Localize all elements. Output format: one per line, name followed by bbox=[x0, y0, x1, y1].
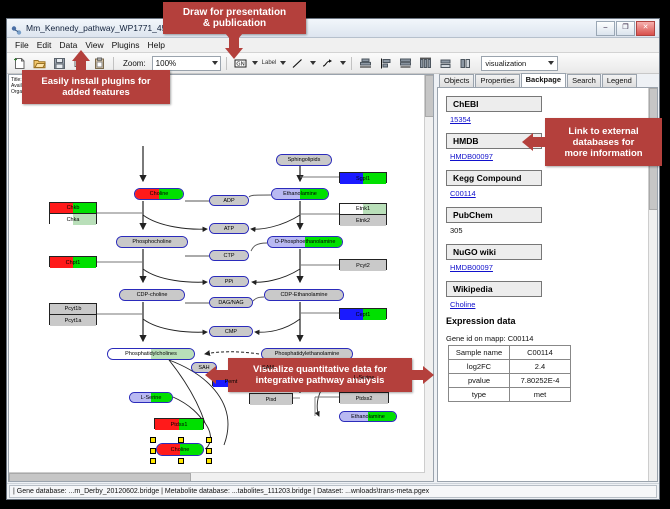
resize-handle[interactable] bbox=[178, 458, 184, 464]
gene-label: Etnk2 bbox=[356, 218, 370, 224]
minimize-button[interactable]: – bbox=[596, 21, 615, 36]
resize-handle[interactable] bbox=[150, 448, 156, 454]
canvas-vscroll-thumb[interactable] bbox=[425, 75, 434, 117]
database-link-kegg-compound[interactable]: C00114 bbox=[450, 189, 657, 198]
callout-plugins: Easily install plugins for added feature… bbox=[22, 70, 170, 104]
gene-row: Sgpl1 bbox=[340, 173, 386, 184]
metabolite-label: PPi bbox=[225, 279, 234, 285]
resize-handle[interactable] bbox=[206, 448, 212, 454]
interaction-dropdown-icon[interactable] bbox=[339, 57, 346, 70]
gene-row: Cept1 bbox=[340, 309, 386, 320]
callout-visualize: Visualize quantitative data for integrat… bbox=[228, 358, 412, 392]
gene-row: Etnk2 bbox=[340, 215, 386, 226]
database-link-nugo-wiki[interactable]: HMDB00097 bbox=[450, 263, 657, 272]
metabolite-label: CTP bbox=[224, 253, 235, 259]
metabolite-node-choline-selected[interactable]: Choline bbox=[156, 443, 204, 456]
metabolite-label: DAG/NAG bbox=[218, 300, 243, 306]
gene-row: Pcyt1a bbox=[50, 315, 96, 326]
gene-label: Chpt1 bbox=[66, 260, 81, 266]
canvas-hscroll-thumb[interactable] bbox=[9, 473, 191, 482]
callout-plugins-arrowhead-icon bbox=[72, 50, 90, 61]
gene-row: Ptdss1 bbox=[155, 419, 203, 430]
database-heading-kegg-compound: Kegg Compound bbox=[446, 170, 542, 186]
menu-plugins[interactable]: Plugins bbox=[108, 40, 144, 50]
callout-links-arrowhead-icon bbox=[522, 133, 533, 151]
interaction-tool-icon[interactable] bbox=[319, 55, 336, 72]
metabolite-node-cdp-ethanolamine[interactable]: CDP-Ethanolamine bbox=[264, 289, 344, 301]
callout-plugins-line2: added features bbox=[62, 87, 130, 98]
gene-row: Chpt1 bbox=[50, 257, 96, 268]
gene-row: Chka bbox=[50, 214, 96, 225]
metabolite-label: SAM bbox=[262, 365, 274, 371]
gene-node-etnk1-etnk2[interactable]: Etnk1Etnk2 bbox=[339, 203, 387, 225]
pathvisio-icon bbox=[11, 23, 22, 34]
tab-properties[interactable]: Properties bbox=[475, 74, 519, 87]
expression-key: pvalue bbox=[449, 374, 510, 388]
window-buttons: – ❐ ✕ bbox=[596, 21, 655, 36]
metabolite-label: L-Serine bbox=[354, 375, 375, 381]
gene-node-pcyt2[interactable]: Pcyt2 bbox=[339, 259, 387, 270]
metabolite-label: Choline bbox=[150, 191, 169, 197]
gene-label: Pcyt2 bbox=[356, 263, 370, 269]
open-file-icon[interactable] bbox=[31, 55, 48, 72]
metabolite-label: O-Phosphoethanolamine bbox=[275, 239, 336, 245]
callout-draw: Draw for presentation & publication bbox=[163, 2, 306, 34]
expression-value: C00114 bbox=[510, 346, 571, 360]
gene-id-line: Gene id on mapp: C00114 bbox=[446, 334, 657, 343]
metabolite-label: CDP-Ethanolamine bbox=[280, 292, 327, 298]
tab-legend[interactable]: Legend bbox=[602, 74, 637, 87]
menu-view[interactable]: View bbox=[81, 40, 107, 50]
metabolite-node-phosphatidylcholines[interactable]: Phosphatidylcholines bbox=[107, 348, 195, 360]
callout-links-line2: databases for bbox=[573, 137, 635, 148]
visualization-combobox[interactable]: visualization bbox=[481, 56, 558, 71]
metabolite-label: L-Serine bbox=[141, 395, 162, 401]
gene-label: Pcyt1b bbox=[65, 306, 82, 312]
expression-data-heading: Expression data bbox=[446, 316, 657, 326]
align-left-icon[interactable] bbox=[377, 55, 394, 72]
callout-visualize-arrowhead-right-icon bbox=[423, 366, 434, 384]
expression-row: pvalue7.80252E-4 bbox=[449, 374, 571, 388]
resize-handle[interactable] bbox=[206, 458, 212, 464]
line-tool-icon[interactable] bbox=[289, 55, 306, 72]
metabolite-label: Choline bbox=[171, 447, 190, 453]
stack-vertical-icon[interactable] bbox=[397, 55, 414, 72]
gene-label: Pisd bbox=[266, 397, 277, 403]
canvas-vertical-scrollbar[interactable] bbox=[424, 75, 433, 481]
maximize-button[interactable]: ❐ bbox=[616, 21, 635, 36]
metabolite-node-choline-top[interactable]: Choline bbox=[134, 188, 184, 200]
callout-draw-line1: Draw for presentation bbox=[183, 7, 286, 18]
callout-visualize-stem-right bbox=[410, 370, 424, 380]
gene-node-chkb-chka[interactable]: ChkbChka bbox=[49, 202, 97, 224]
menu-file[interactable]: File bbox=[11, 40, 33, 50]
callout-draw-line2: & publication bbox=[203, 18, 266, 29]
callout-links-stem bbox=[533, 137, 547, 147]
expression-key: Sample name bbox=[449, 346, 510, 360]
expression-row: Sample nameC00114 bbox=[449, 346, 571, 360]
menu-help[interactable]: Help bbox=[144, 40, 169, 50]
metabolite-node-ctp[interactable]: CTP bbox=[209, 250, 249, 261]
zoom-value: 100% bbox=[156, 59, 176, 68]
resize-handle[interactable] bbox=[206, 437, 212, 443]
expression-key: log2FC bbox=[449, 360, 510, 374]
expression-value: 2.4 bbox=[510, 360, 571, 374]
paste-icon[interactable] bbox=[91, 55, 108, 72]
gene-node-ptdss1[interactable]: Ptdss1 bbox=[154, 418, 204, 429]
gene-row: Ptdss2 bbox=[340, 393, 388, 404]
metabolite-node-dag-nag[interactable]: DAG/NAG bbox=[209, 297, 253, 308]
metabolite-node-atp[interactable]: ATP bbox=[209, 223, 249, 234]
metabolite-node-phosphocholine[interactable]: Phosphocholine bbox=[116, 236, 188, 248]
metabolite-label: CMP bbox=[225, 329, 237, 335]
gene-row: Pcyt2 bbox=[340, 260, 386, 271]
zoom-combobox[interactable]: 100% bbox=[152, 56, 221, 71]
gene-label: Ptdss2 bbox=[356, 396, 373, 402]
metabolite-node-ppi[interactable]: PPi bbox=[209, 276, 249, 287]
status-bar: | Gene database: ...m_Derby_20120602.bri… bbox=[7, 483, 659, 499]
gene-node-chpt1[interactable]: Chpt1 bbox=[49, 256, 97, 267]
metabolite-node-cmp[interactable]: CMP bbox=[209, 326, 253, 337]
resize-handle[interactable] bbox=[178, 437, 184, 443]
same-width-icon[interactable] bbox=[437, 55, 454, 72]
status-text: | Gene database: ...m_Derby_20120602.bri… bbox=[9, 485, 657, 498]
side-panel-tabs: Objects Properties Backpage Search Legen… bbox=[435, 74, 658, 87]
screenshot-root: Mm_Kennedy_pathway_WP1771_45176.gpml – ❐… bbox=[0, 0, 670, 509]
gene-label: Etnk1 bbox=[356, 206, 370, 212]
metabolite-node-l-serine-left[interactable]: L-Serine bbox=[129, 392, 173, 403]
toolbar-separator bbox=[113, 57, 114, 70]
chevron-down-icon-2 bbox=[548, 61, 554, 65]
expression-row: log2FC2.4 bbox=[449, 360, 571, 374]
database-heading-nugo-wiki: NuGO wiki bbox=[446, 244, 542, 260]
metabolite-label: Phosphatidylethanolamine bbox=[275, 351, 340, 357]
tab-search[interactable]: Search bbox=[567, 74, 601, 87]
metabolite-node-cdp-choline[interactable]: CDP-choline bbox=[119, 289, 185, 301]
expression-table: Sample nameC00114log2FC2.4pvalue7.80252E… bbox=[448, 345, 571, 402]
gene-label: Cept1 bbox=[356, 312, 371, 318]
gene-label: Pemt bbox=[225, 379, 238, 385]
visualization-value: visualization bbox=[485, 59, 526, 68]
title-bar: Mm_Kennedy_pathway_WP1771_45176.gpml – ❐… bbox=[7, 19, 659, 38]
new-file-icon[interactable] bbox=[11, 55, 28, 72]
tab-objects[interactable]: Objects bbox=[439, 74, 474, 87]
gene-node-sgpl1[interactable]: Sgpl1 bbox=[339, 172, 387, 183]
gene-node-pcyt1[interactable]: Pcyt1bPcyt1a bbox=[49, 303, 97, 325]
callout-links: Link to external databases for more info… bbox=[545, 118, 662, 166]
svg-text:GN: GN bbox=[236, 61, 245, 67]
gene-node-ptdss2[interactable]: Ptdss2 bbox=[339, 392, 389, 403]
metabolite-label: ATP bbox=[224, 226, 234, 232]
expression-value: met bbox=[510, 388, 571, 402]
expression-row: typemet bbox=[449, 388, 571, 402]
metabolite-node-ethanolamine-top[interactable]: Ethanolamine bbox=[271, 188, 329, 200]
metabolite-label: ADP bbox=[223, 198, 234, 204]
gene-label: Chka bbox=[67, 217, 80, 223]
menu-data[interactable]: Data bbox=[55, 40, 81, 50]
callout-draw-arrowhead-icon bbox=[225, 48, 243, 59]
gene-row: Chkb bbox=[50, 203, 96, 214]
database-heading-chebi: ChEBI bbox=[446, 96, 542, 112]
expression-key: type bbox=[449, 388, 510, 402]
metabolite-label: Phosphocholine bbox=[132, 239, 171, 245]
save-file-icon[interactable] bbox=[51, 55, 68, 72]
metabolite-label: Ethanolamine bbox=[283, 191, 317, 197]
metabolite-label: Ethanolamine bbox=[351, 414, 385, 420]
menu-edit[interactable]: Edit bbox=[33, 40, 56, 50]
chevron-down-icon bbox=[212, 61, 218, 65]
label-tool[interactable]: Label bbox=[262, 60, 277, 66]
database-link-wikipedia[interactable]: Choline bbox=[450, 300, 657, 309]
close-button[interactable]: ✕ bbox=[636, 21, 655, 36]
gene-label: Sgpl1 bbox=[356, 176, 370, 182]
database-heading-pubchem: PubChem bbox=[446, 207, 542, 223]
metabolite-node-ethanolamine-bottom[interactable]: Ethanolamine bbox=[339, 411, 397, 422]
toolbar-separator-3 bbox=[351, 57, 352, 70]
gene-node-pisd[interactable]: Pisd bbox=[249, 393, 293, 404]
gene-label: Pcyt1a bbox=[65, 318, 82, 324]
database-value-pubchem: 305 bbox=[450, 226, 657, 235]
gene-node-cept1[interactable]: Cept1 bbox=[339, 308, 387, 319]
metabolite-label: Phosphatidylcholines bbox=[125, 351, 177, 357]
line-dropdown-icon[interactable] bbox=[309, 57, 316, 70]
callout-plugins-line1: Easily install plugins for bbox=[41, 76, 150, 87]
pathway-drawing: Title: Availa Organi bbox=[9, 75, 433, 481]
metabolite-node-o-phosphoethanolamine[interactable]: O-Phosphoethanolamine bbox=[267, 236, 343, 248]
menu-bar: File Edit Data View Plugins Help bbox=[7, 38, 659, 53]
canvas-horizontal-scrollbar[interactable] bbox=[9, 472, 425, 481]
gene-row: Pcyt1b bbox=[50, 304, 96, 315]
metabolite-label: Sphingolipids bbox=[288, 157, 321, 163]
database-heading-wikipedia: Wikipedia bbox=[446, 281, 542, 297]
datanode-dropdown-icon[interactable] bbox=[252, 57, 259, 70]
distribute-horizontal-icon[interactable] bbox=[417, 55, 434, 72]
metabolite-node-sphingolipids[interactable]: Sphingolipids bbox=[276, 154, 332, 166]
gene-row: Pisd bbox=[250, 394, 292, 405]
metabolite-node-adp[interactable]: ADP bbox=[209, 195, 249, 206]
tab-backpage[interactable]: Backpage bbox=[521, 73, 566, 87]
label-dropdown-icon[interactable] bbox=[279, 57, 286, 70]
gene-label: Chkb bbox=[67, 205, 80, 211]
zoom-label: Zoom: bbox=[123, 59, 146, 68]
expression-value: 7.80252E-4 bbox=[510, 374, 571, 388]
metabolite-label: CDP-choline bbox=[137, 292, 168, 298]
align-center-icon[interactable] bbox=[357, 55, 374, 72]
callout-links-line3: more information bbox=[564, 148, 642, 159]
pathway-canvas[interactable]: Title: Availa Organi bbox=[8, 74, 434, 482]
metabolite-label: SAH bbox=[198, 365, 209, 371]
gene-row: Etnk1 bbox=[340, 204, 386, 215]
gene-label: Ptdss1 bbox=[171, 422, 188, 428]
resize-handle[interactable] bbox=[150, 437, 156, 443]
same-height-icon[interactable] bbox=[457, 55, 474, 72]
resize-handle[interactable] bbox=[150, 458, 156, 464]
callout-links-line1: Link to external bbox=[568, 126, 638, 137]
